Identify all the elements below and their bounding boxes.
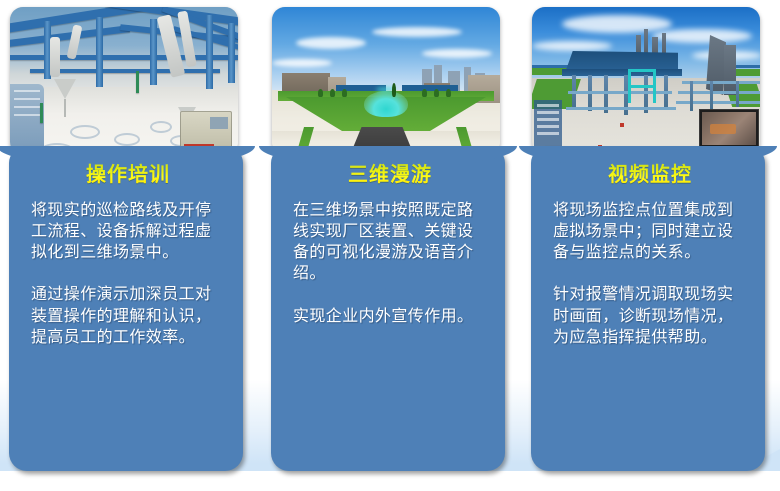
thumbnail-overlay-menu [10,84,44,146]
card-body: 将现实的巡检路线及开停工流程、设备拆解过程虚拟化到三维场景中。 通过操作演示加深… [31,199,225,347]
card-paragraph: 实现企业内外宣传作用。 [293,305,487,326]
card-title: 三维漫游 [293,163,487,185]
card-paragraph: 针对报警情况调取现场实时画面，诊断现场情况，为应急指挥提供帮助。 [553,283,747,346]
card-paragraph: 通过操作演示加深员工对装置操作的理解和认识，提高员工的工作效率。 [31,283,225,346]
card-paragraph: 将现实的巡检路线及开停工流程、设备拆解过程虚拟化到三维场景中。 [31,199,225,262]
thumbnail-equipment [180,111,232,151]
card-body: 将现场监控点位置集成到虚拟场景中；同时建立设备与监控点的关系。 针对报警情况调取… [553,199,747,347]
card-panel-3d-roaming: 三维漫游 在三维场景中按照既定路线实现厂区装置、关键设备的可视化漫游及语音介绍。… [271,147,505,471]
thumbnail-3d-roaming [272,7,500,155]
card-title: 操作培训 [31,163,225,185]
slide-canvas: 操作培训 将现实的巡检路线及开停工流程、设备拆解过程虚拟化到三维场景中。 通过操… [0,0,780,491]
card-paragraph: 在三维场景中按照既定路线实现厂区装置、关键设备的可视化漫游及语音介绍。 [293,199,487,283]
card-paragraph: 将现场监控点位置集成到虚拟场景中；同时建立设备与监控点的关系。 [553,199,747,262]
card-title: 视频监控 [553,163,747,185]
thumbnail-video-surveillance [532,7,760,155]
video-feed [702,112,756,145]
thumbnail-overlay-menu [534,100,562,148]
thumbnail-operation-training [10,7,238,155]
card-panel-operation-training: 操作培训 将现实的巡检路线及开停工流程、设备拆解过程虚拟化到三维场景中。 通过操… [9,147,243,471]
card-panel-video-surveillance: 视频监控 将现场监控点位置集成到虚拟场景中；同时建立设备与监控点的关系。 针对报… [531,147,765,471]
card-body: 在三维场景中按照既定路线实现厂区装置、关键设备的可视化漫游及语音介绍。 实现企业… [293,199,487,326]
